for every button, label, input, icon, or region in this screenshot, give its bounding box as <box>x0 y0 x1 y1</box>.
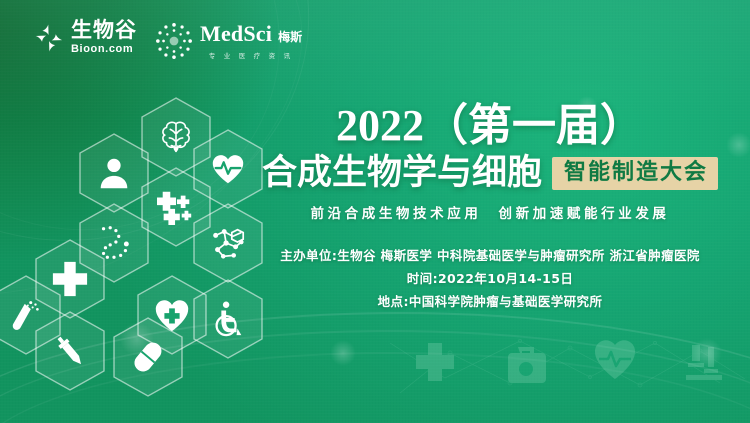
glow-dot-decoration <box>330 340 356 366</box>
dotted-circle-logo-icon <box>155 22 193 60</box>
heartbeat-watermark-icon <box>595 340 635 379</box>
event-meta-block: 主办单位:生物谷 梅斯医学 中科院基础医学与肿瘤研究所 浙江省肿瘤医院 时间:2… <box>250 244 730 313</box>
molecule-icon <box>209 224 247 262</box>
event-title-main: 合成生物学与细胞 <box>262 156 542 191</box>
capsule-pill-icon <box>129 338 167 376</box>
bioon-chinese-name: 生物谷 <box>71 20 137 41</box>
event-year-edition: 2022（第一届） <box>250 104 730 148</box>
event-tagline: 前沿合成生物技术应用 创新加速赋能行业发展 <box>250 202 730 222</box>
doctor-person-icon <box>95 154 133 192</box>
event-organizers: 主办单位:生物谷 梅斯医学 中科院基础医学与肿瘤研究所 浙江省肿瘤医院 <box>250 244 730 267</box>
medsci-chinese-name: 梅斯 <box>278 28 302 45</box>
hex-cell-syringe <box>34 310 106 392</box>
brain-icon <box>157 118 195 156</box>
microscope-watermark-icon <box>686 345 722 380</box>
heartbeat-icon <box>209 150 247 188</box>
watermark-icon-strip <box>390 313 750 423</box>
syringe-icon <box>51 332 89 370</box>
logo-row: 生物谷 Bioon.com <box>34 20 302 60</box>
pinwheel-logo-icon <box>34 23 64 53</box>
bioon-logo[interactable]: 生物谷 Bioon.com <box>34 20 137 55</box>
multi-cross-icon <box>157 188 195 226</box>
hexagon-icon-cluster <box>0 88 260 338</box>
event-title-badge: 智能制造大会 <box>552 157 718 190</box>
event-date: 时间:2022年10月14-15日 <box>250 267 730 290</box>
event-venue: 地点:中国科学院肿瘤与基础医学研究所 <box>250 290 730 313</box>
medical-bag-watermark-icon <box>508 347 546 383</box>
main-copy-block: 2022（第一届） 合成生物学与细胞 智能制造大会 前沿合成生物技术应用 创新加… <box>250 104 730 313</box>
medsci-logo[interactable]: MedSci 梅斯 专 业 医 疗 资 讯 <box>155 21 302 60</box>
medsci-english-name: MedSci <box>200 21 272 47</box>
wheelchair-icon <box>209 300 247 338</box>
hex-cell-capsule <box>112 316 184 398</box>
medsci-tagline: 专 业 医 疗 资 讯 <box>200 50 302 60</box>
title-row: 合成生物学与细胞 智能制造大会 <box>250 156 730 191</box>
bioon-domain-name: Bioon.com <box>71 44 137 55</box>
conference-promo-banner: 生物谷 Bioon.com <box>0 0 750 423</box>
